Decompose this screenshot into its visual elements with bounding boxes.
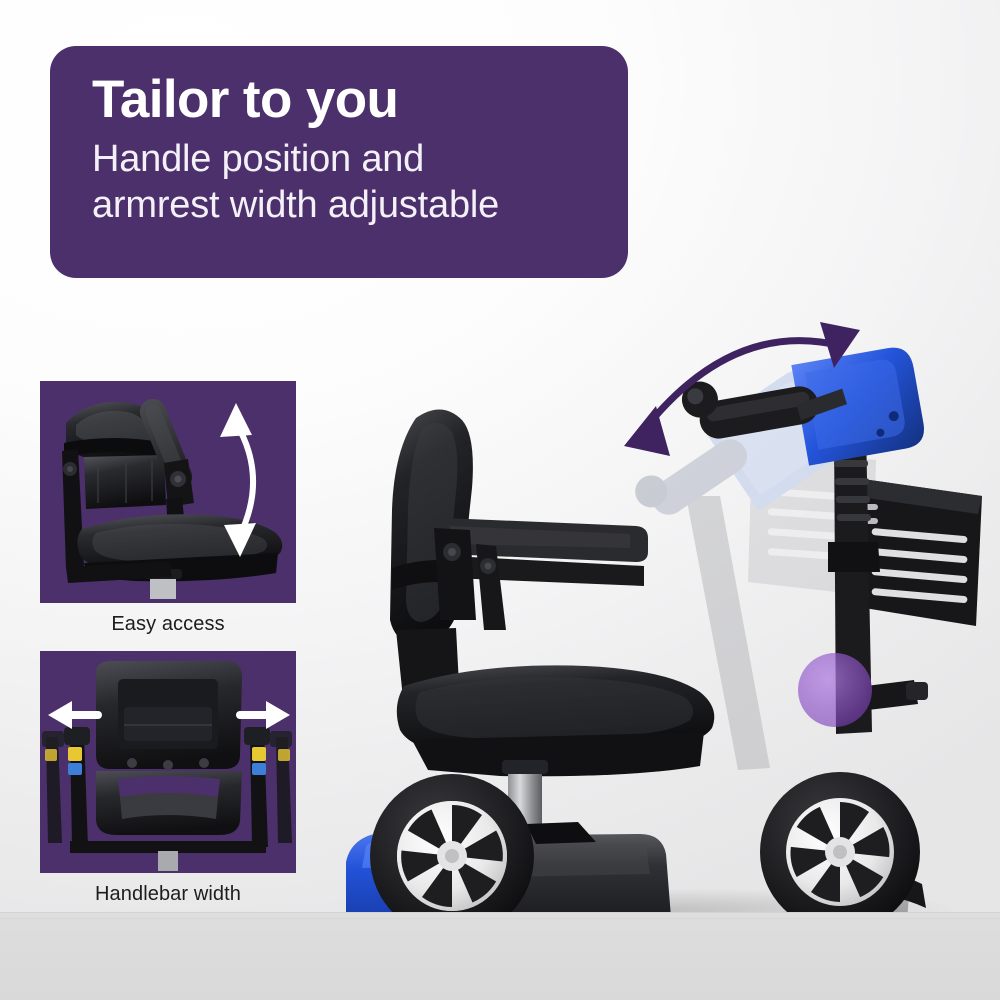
banner-subline: Handle position and armrest width adjust… — [92, 136, 594, 229]
inset-easy-access: Easy access — [40, 381, 296, 636]
scooter-illustration — [300, 300, 990, 940]
banner-subline-2: armrest width adjustable — [92, 182, 594, 228]
inset-handlebar-width-caption: Handlebar width — [40, 883, 296, 906]
adjustment-highlight-circle — [798, 653, 872, 727]
rear-bracket — [866, 680, 928, 710]
inset2-clamp-left — [64, 727, 90, 775]
inset-handlebar-width-frame — [40, 651, 296, 873]
inset-easy-access-caption: Easy access — [40, 613, 296, 636]
product-image-canvas: Tailor to you Handle position and armres… — [0, 0, 1000, 1000]
inset-easy-access-frame — [40, 381, 296, 603]
inset-handlebar-width: Handlebar width — [40, 651, 296, 906]
banner-headline: Tailor to you — [92, 72, 594, 127]
inset2-width-arrow-left — [48, 701, 102, 729]
headline-banner: Tailor to you Handle position and armres… — [50, 46, 628, 278]
front-wheel — [760, 772, 920, 932]
inset2-width-arrow-right — [236, 701, 290, 729]
bottom-shelf-band — [0, 912, 1000, 1000]
body-vent — [526, 822, 596, 844]
arrow-head-left — [624, 406, 670, 456]
bottom-shelf-line — [0, 918, 1000, 919]
banner-subline-1: Handle position and — [92, 138, 424, 180]
seat-rear-view-illustration — [40, 651, 296, 873]
inset2-clamp-right — [244, 727, 270, 775]
seat-side-view-illustration — [40, 381, 296, 603]
tiller-clamp — [828, 542, 880, 572]
inset1-arrow-head-top — [220, 403, 252, 437]
